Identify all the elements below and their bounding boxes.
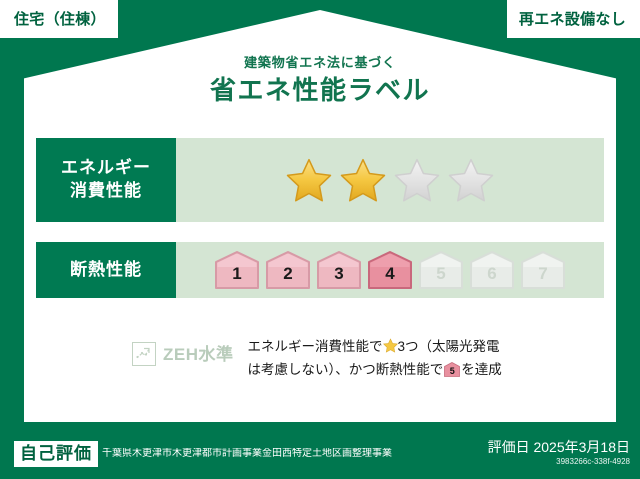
zeh-standard-label: ZEH水準 (163, 346, 234, 363)
self-evaluation-badge: 自己評価 (14, 441, 98, 467)
energy-performance-label: 住宅（住棟） 再エネ設備なし 建築物省エネ法に基づく 省エネ性能ラベル エネルギ… (0, 0, 640, 479)
evaluation-date: 評価日 2025年3月18日 (488, 439, 630, 456)
label-title-block: 建築物省エネ法に基づく 省エネ性能ラベル (0, 56, 640, 107)
energy-stars-area (176, 138, 604, 222)
building-type-tag: 住宅（住棟） (0, 0, 118, 38)
insulation-chip-filled: 3 (316, 250, 362, 290)
insulation-chip-value: 5 (436, 265, 445, 290)
energy-performance-label: エネルギー 消費性能 (36, 138, 176, 222)
document-id: 3983266c-338f-4928 (488, 457, 630, 467)
page-title: 省エネ性能ラベル (0, 74, 640, 107)
achievement-note-line1: エネルギー消費性能で 3つ（太陽光発電 (248, 336, 502, 359)
star-icon-filled (339, 157, 387, 203)
star-icon-empty (447, 157, 495, 203)
inline-level-chip-value: 5 (444, 362, 460, 377)
star-icon-empty (393, 157, 441, 203)
insulation-chip-value: 1 (232, 265, 241, 290)
zeh-note-area: ZEH水準 エネルギー消費性能で 3つ（太陽光発電 は考慮しない）、かつ断熱性能… (36, 336, 604, 382)
insulation-chip-filled: 2 (265, 250, 311, 290)
insulation-chip-current: 4 (367, 250, 413, 290)
zeh-standard-indicator: ZEH水準 (132, 336, 234, 366)
label-footer: 自己評価 千葉県木更津市木更津都市計画事業金田西特定土地区画整理事業 評価日 2… (0, 428, 640, 479)
star-rating (285, 157, 495, 203)
insulation-performance-row: 断熱性能 1234567 (36, 242, 604, 298)
energy-performance-row: エネルギー 消費性能 (36, 138, 604, 222)
inline-level-chip: 5 (444, 362, 460, 377)
inline-star-icon (383, 338, 398, 353)
insulation-chip-value: 2 (283, 265, 292, 290)
renewable-energy-tag: 再エネ設備なし (507, 0, 640, 38)
note-line2-suffix: を達成 (461, 362, 502, 377)
insulation-chip-value: 3 (334, 265, 343, 290)
achievement-note: エネルギー消費性能で 3つ（太陽光発電 は考慮しない）、かつ断熱性能で 5を達成 (248, 336, 502, 382)
zeh-chart-icon (132, 342, 156, 366)
insulation-scale-area: 1234567 (176, 242, 604, 298)
insulation-chip-filled: 1 (214, 250, 260, 290)
star-icon-filled (285, 157, 333, 203)
insulation-level-scale: 1234567 (214, 250, 566, 290)
insulation-chip-value: 4 (385, 265, 394, 290)
energy-label-line2: 消費性能 (70, 180, 142, 203)
insulation-label-line1: 断熱性能 (70, 259, 142, 282)
insulation-performance-label: 断熱性能 (36, 242, 176, 298)
insulation-chip-empty: 7 (520, 250, 566, 290)
insulation-chip-empty: 5 (418, 250, 464, 290)
insulation-chip-value: 7 (538, 265, 547, 290)
project-address: 千葉県木更津市木更津都市計画事業金田西特定土地区画整理事業 (102, 448, 488, 460)
insulation-chip-value: 6 (487, 265, 496, 290)
note-line1-suffix: 3つ（太陽光発電 (398, 339, 500, 354)
insulation-chip-empty: 6 (469, 250, 515, 290)
achievement-note-line2: は考慮しない）、かつ断熱性能で 5を達成 (248, 359, 502, 382)
title-subtitle: 建築物省エネ法に基づく (0, 56, 640, 70)
footer-meta: 評価日 2025年3月18日 3983266c-338f-4928 (488, 439, 630, 467)
note-line2-prefix: は考慮しない）、かつ断熱性能で (248, 362, 444, 377)
energy-label-line1: エネルギー (61, 157, 151, 180)
note-line1-prefix: エネルギー消費性能で (248, 339, 383, 354)
